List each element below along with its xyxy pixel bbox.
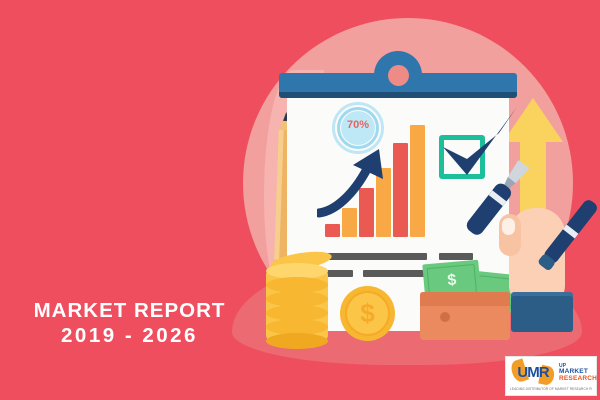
wallet-button [440, 312, 450, 322]
growth-trend-arrow-icon [317, 143, 395, 221]
kpi-percentage-badge: 70% [332, 102, 384, 154]
headline-line-1: MARKET REPORT [22, 298, 237, 323]
bar-5 [393, 143, 408, 237]
dollar-sign-icon: $ [340, 300, 395, 326]
clipboard-clip-hole [388, 65, 409, 86]
logo-mark-text: UMR [510, 363, 556, 382]
pen-nib-icon [455, 150, 545, 240]
sleeve-cuff [511, 296, 573, 332]
headline-line-2: 2019 - 2026 [22, 323, 237, 348]
dollar-coin: $ [340, 286, 395, 341]
kpi-value: 70% [332, 119, 384, 131]
doc-line-2 [439, 253, 473, 260]
logo-tagline: LEADING DISTRIBUTOR OF MARKET RESEARCH R… [510, 387, 592, 391]
bar-6 [410, 125, 425, 237]
logo-row: UMR UP MARKET RESEARCH [510, 360, 592, 386]
page-title: MARKET REPORT 2019 - 2026 [22, 298, 237, 348]
banknote-dollar-sign: $ [439, 271, 464, 291]
logo-wordmark: UP MARKET RESEARCH [559, 364, 597, 383]
company-logo[interactable]: UMR UP MARKET RESEARCH LEADING DISTRIBUT… [505, 356, 597, 396]
bar-1 [325, 224, 340, 237]
logo-line-3: RESEARCH [559, 376, 597, 383]
coin-edge-6 [266, 333, 328, 349]
coin-stack: $ [262, 253, 392, 348]
logo-mark: UMR [510, 362, 556, 384]
clipboard-bar-shadow [279, 92, 517, 98]
market-report-banner: MARKET REPORT 2019 - 2026 [0, 0, 600, 400]
